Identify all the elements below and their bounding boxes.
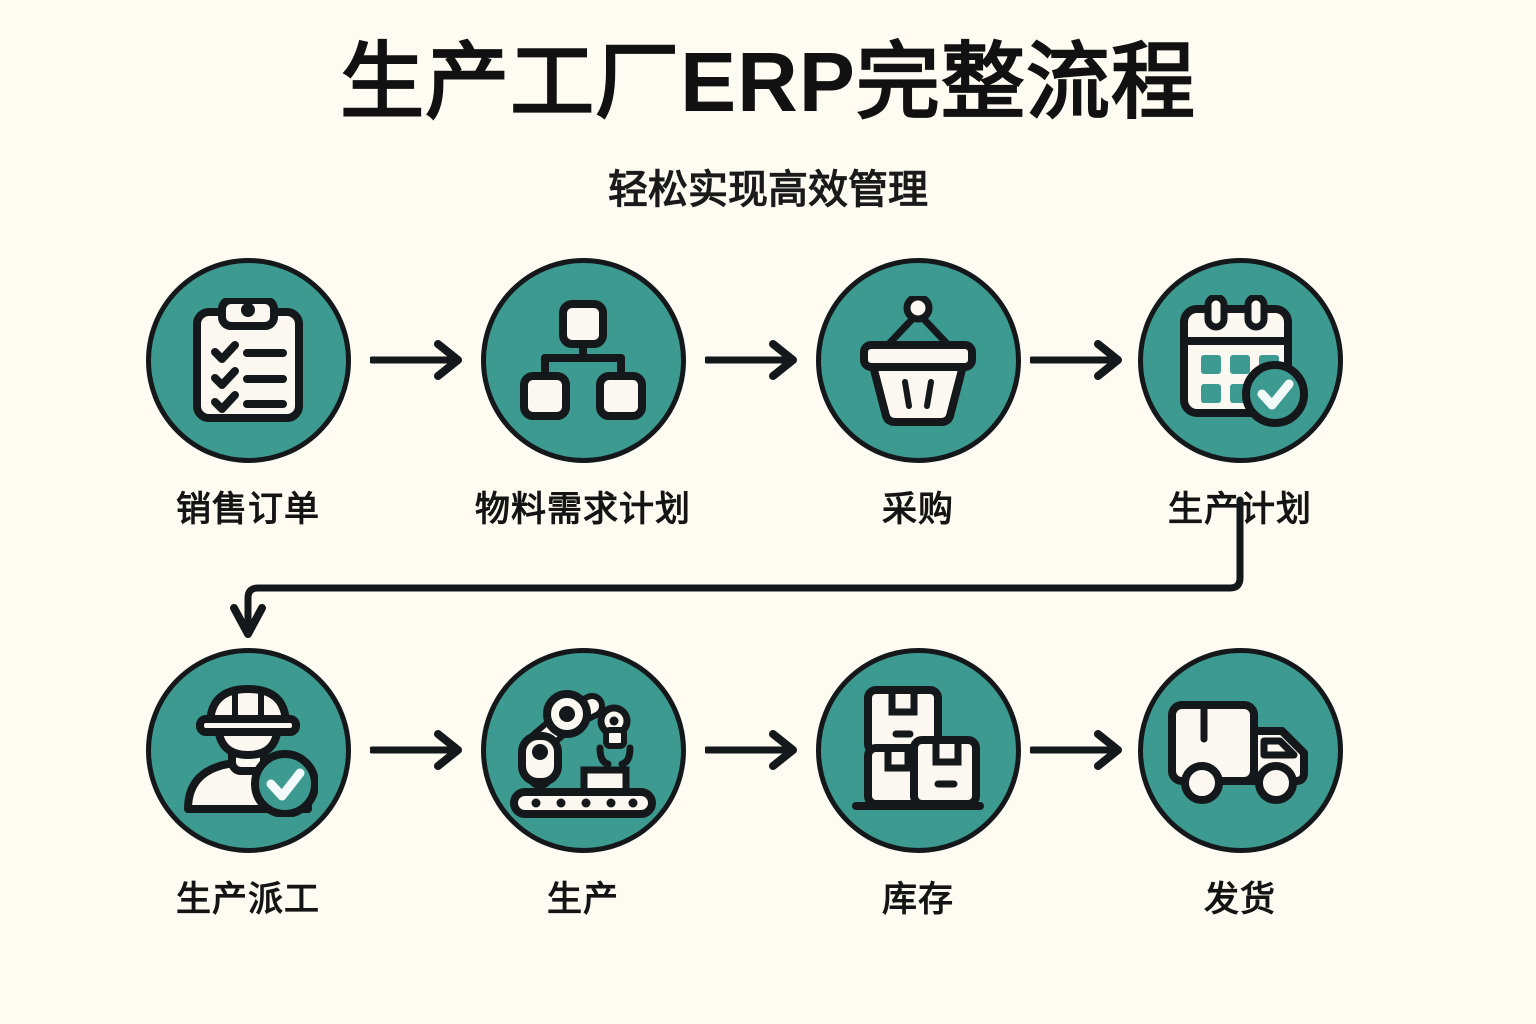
flow-node-circle xyxy=(481,258,686,463)
flow-node-label: 生产派工 xyxy=(118,871,378,922)
flow-node-circle xyxy=(481,648,686,853)
clipboard-checklist-icon xyxy=(189,298,307,424)
flow-node-label: 库存 xyxy=(788,871,1048,922)
flow-node-inventory[interactable]: 库存 xyxy=(788,648,1048,922)
flow-node-circle xyxy=(816,648,1021,853)
flow-node-label: 发货 xyxy=(1110,871,1370,922)
page-title: 生产工厂ERP完整流程 xyxy=(0,38,1536,127)
flow-node-label: 采购 xyxy=(788,481,1048,532)
flow-node-label: 生产 xyxy=(453,871,713,922)
calendar-check-icon xyxy=(1172,295,1308,427)
flow-node-circle xyxy=(1138,648,1343,853)
infographic-canvas: 生产工厂ERP完整流程 轻松实现高效管理 xyxy=(0,0,1536,1024)
flow-node-circle xyxy=(816,258,1021,463)
flow-node-circle xyxy=(146,648,351,853)
flow-node-production-plan[interactable]: 生产计划 xyxy=(1110,258,1370,532)
flow-node-label: 销售订单 xyxy=(118,481,378,532)
flow-node-production[interactable]: 生产 xyxy=(453,648,713,922)
flow-node-circle xyxy=(1138,258,1343,463)
page-subtitle: 轻松实现高效管理 xyxy=(0,168,1536,212)
flow-node-mrp[interactable]: 物料需求计划 xyxy=(453,258,713,532)
hierarchy-tree-icon xyxy=(520,300,646,422)
flow-node-label: 生产计划 xyxy=(1110,481,1370,532)
flow-node-work-dispatch[interactable]: 生产派工 xyxy=(118,648,378,922)
flow-node-label: 物料需求计划 xyxy=(453,481,713,532)
flow-node-shipping[interactable]: 发货 xyxy=(1110,648,1370,922)
flow-node-sales-order[interactable]: 销售订单 xyxy=(118,258,378,532)
robot-arm-conveyor-icon xyxy=(510,684,656,818)
delivery-truck-icon xyxy=(1166,695,1314,807)
flow-node-circle xyxy=(146,258,351,463)
flow-node-purchasing[interactable]: 采购 xyxy=(788,258,1048,532)
worker-helmet-check-icon xyxy=(178,685,318,817)
flow-row-1: 销售订单 xyxy=(0,258,1536,558)
stacked-boxes-icon xyxy=(848,684,988,818)
flow-row-2: 生产派工 xyxy=(0,648,1536,948)
shopping-basket-icon xyxy=(856,296,980,426)
